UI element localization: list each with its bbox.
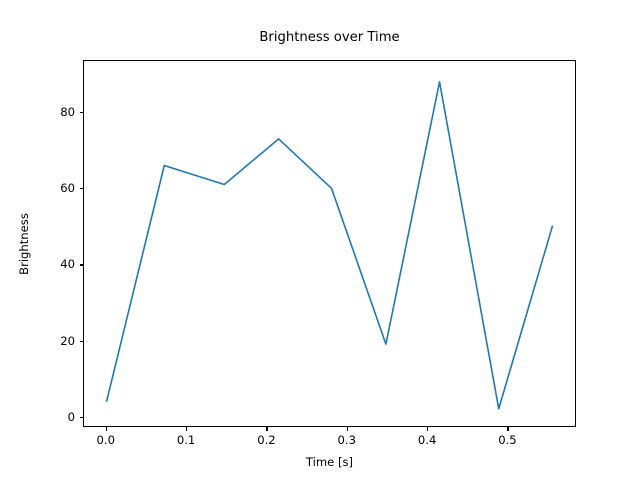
x-axis-label: Time [s] [83, 455, 576, 469]
y-tick-label: 60 [40, 181, 75, 195]
x-tick-label: 0.0 [97, 433, 115, 447]
y-tick-mark [80, 417, 84, 418]
y-tick-mark [80, 264, 84, 265]
x-tick-label: 0.2 [257, 433, 275, 447]
x-tick-mark [186, 427, 187, 431]
x-tick-label: 0.4 [418, 433, 436, 447]
y-axis-label: Brightness [17, 213, 31, 275]
y-tick-mark [80, 341, 84, 342]
y-tick-label: 0 [40, 410, 75, 424]
y-tick-label: 40 [40, 257, 75, 271]
y-tick-mark [80, 112, 84, 113]
x-tick-mark [507, 427, 508, 431]
data-line-brightness [107, 82, 553, 409]
x-tick-label: 0.5 [498, 433, 516, 447]
page-title: Brightness over Time [83, 30, 576, 46]
x-tick-mark [347, 427, 348, 431]
x-tick-mark [427, 427, 428, 431]
x-tick-mark [106, 427, 107, 431]
plot-area [83, 60, 576, 427]
x-tick-label: 0.1 [177, 433, 195, 447]
y-tick-label: 20 [40, 334, 75, 348]
matplotlib-figure: Brightness over Time Time [s] Brightness… [0, 0, 640, 480]
x-tick-mark [266, 427, 267, 431]
line-series-svg [84, 61, 575, 426]
x-tick-label: 0.3 [338, 433, 356, 447]
y-tick-label: 80 [40, 105, 75, 119]
y-tick-mark [80, 188, 84, 189]
